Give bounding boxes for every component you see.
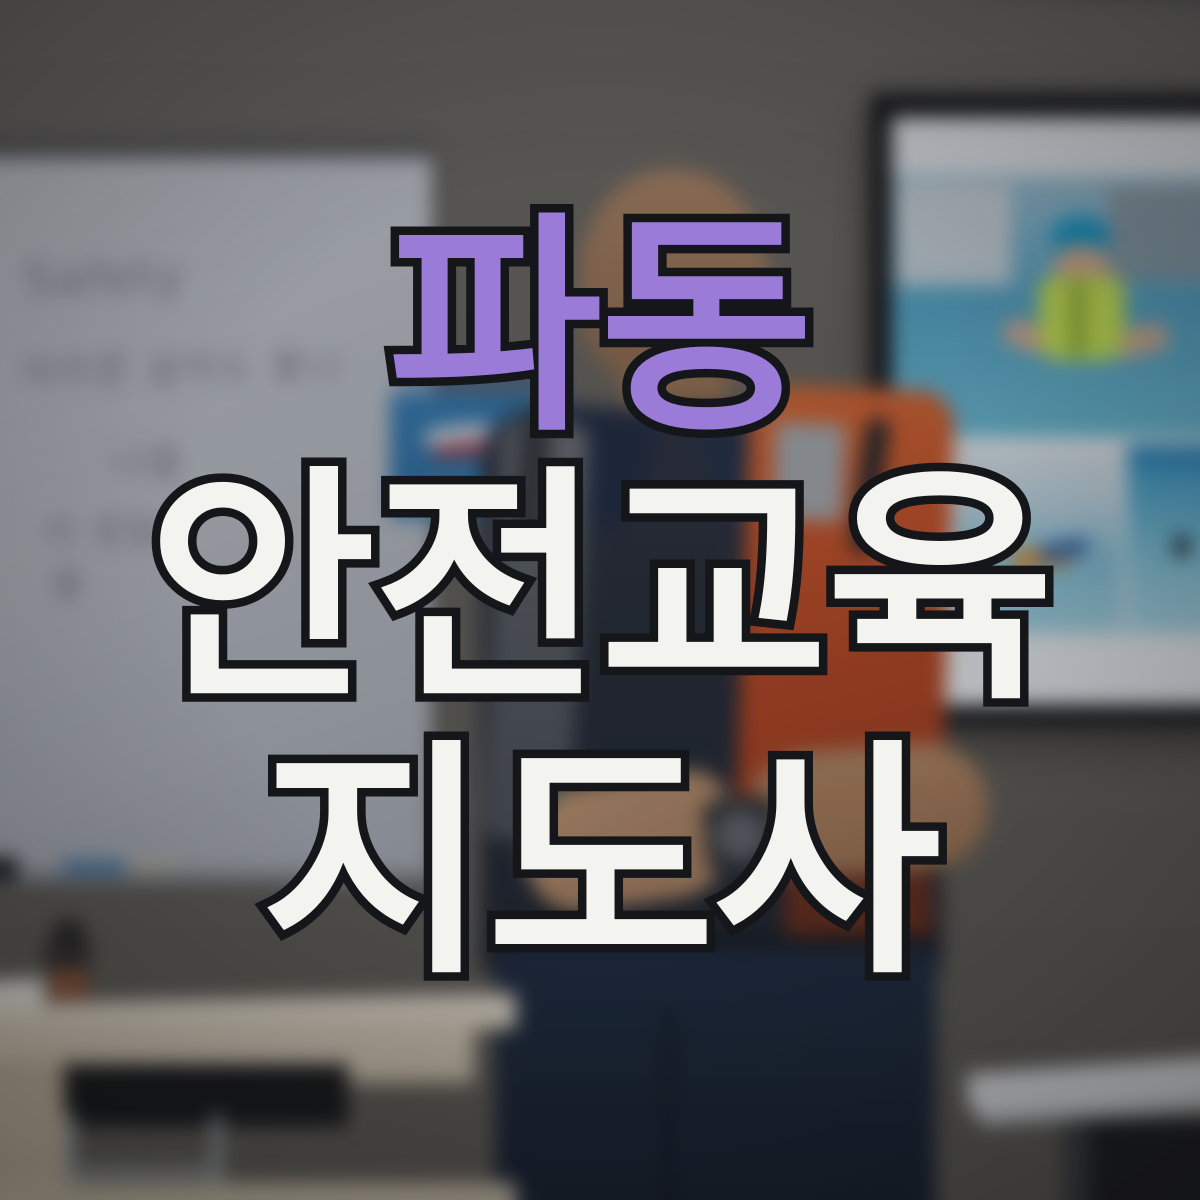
vest-reflective-strip	[773, 422, 846, 521]
whiteboard-handwriting-line-5: 물	[52, 558, 85, 606]
pants-seam	[663, 1010, 674, 1200]
chair-rail	[64, 1167, 222, 1176]
whiteboard-handwriting-line-4: 이 정말	[44, 503, 162, 554]
floor	[0, 1183, 516, 1200]
whiteboard-handwriting-line-3: 나울	[111, 432, 185, 487]
slide-building-left	[896, 184, 1012, 285]
blue-marker	[62, 860, 125, 873]
slide-swimmer-strap	[1073, 281, 1084, 357]
chair-back	[0, 1062, 64, 1199]
right-table-shadow	[1083, 1120, 1200, 1200]
right-table-leg	[1062, 1115, 1089, 1200]
slide-photo-bottom-left	[955, 445, 1123, 634]
background-photo: Safety 자라른 설악도 쫓나 나울 이 정말 물	[0, 0, 1200, 1200]
poster-heading	[398, 365, 555, 386]
second-marker	[128, 861, 176, 872]
whiteboard-eraser	[0, 857, 18, 880]
whiteboard-handwriting-line-1: Safety	[24, 249, 186, 307]
slide-building-right	[1108, 186, 1200, 281]
slide-open-water-swimmer	[1173, 535, 1190, 558]
bottle-label	[50, 970, 88, 1002]
instructor-pants	[495, 946, 936, 1200]
whiteboard-top-edge	[0, 146, 432, 159]
title-card: Safety 자라른 설악도 쫓나 나울 이 정말 물	[0, 0, 1200, 1200]
whiteboard-handwriting-line-2: 자라른 설악도 쫓나	[20, 337, 344, 397]
slide-photo-bottom-right	[1127, 445, 1200, 634]
